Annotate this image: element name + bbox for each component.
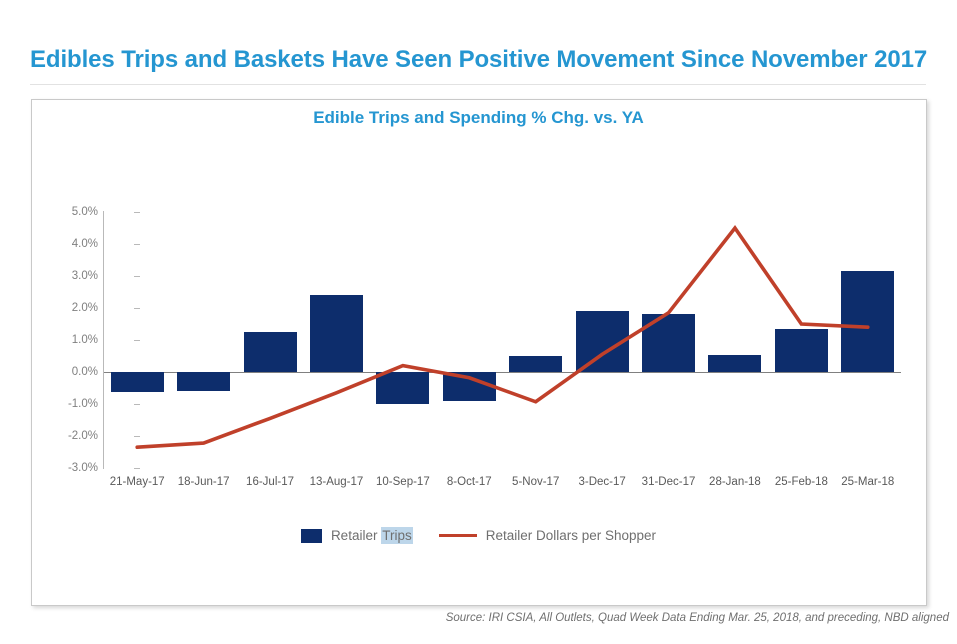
legend-trips-prefix: Retailer — [331, 528, 381, 543]
legend-item-dollars-per-shopper[interactable]: Retailer Dollars per Shopper — [439, 528, 656, 543]
bar-31-Dec-17[interactable] — [642, 314, 695, 372]
y-axis-tick-label: 5.0% — [42, 206, 98, 218]
legend-bar-swatch-icon — [301, 529, 322, 543]
y-axis-line — [103, 211, 104, 469]
legend-item-dollars-label: Retailer Dollars per Shopper — [486, 528, 656, 543]
y-axis-tick-mark — [134, 340, 140, 341]
y-axis-tick-label: 4.0% — [42, 238, 98, 250]
y-axis-tick-mark — [134, 308, 140, 309]
bar-21-May-17[interactable] — [111, 372, 164, 392]
legend-item-trips-label: Retailer Trips — [331, 528, 413, 543]
bar-10-Sep-17[interactable] — [376, 372, 429, 404]
y-axis-tick-label: -1.0% — [42, 398, 98, 410]
legend-trips-highlight: Trips — [381, 527, 413, 544]
bar-5-Nov-17[interactable] — [509, 356, 562, 372]
bar-18-Jun-17[interactable] — [177, 372, 230, 391]
legend-item-trips[interactable]: Retailer Trips — [301, 528, 413, 543]
x-axis-tick-label: 25-Mar-18 — [813, 476, 923, 488]
bar-28-Jan-18[interactable] — [708, 355, 761, 372]
y-axis-tick-mark — [134, 244, 140, 245]
bar-25-Mar-18[interactable] — [841, 271, 894, 372]
bar-25-Feb-18[interactable] — [775, 329, 828, 372]
y-axis-tick-mark — [134, 404, 140, 405]
y-axis-tick-mark — [134, 212, 140, 213]
y-axis-tick-label: 3.0% — [42, 270, 98, 282]
bar-8-Oct-17[interactable] — [443, 372, 496, 401]
chart-legend: Retailer Trips Retailer Dollars per Shop… — [0, 528, 957, 543]
y-axis-tick-mark — [134, 468, 140, 469]
title-divider — [30, 84, 926, 85]
page-title: Edibles Trips and Baskets Have Seen Posi… — [30, 46, 920, 74]
bar-3-Dec-17[interactable] — [576, 311, 629, 372]
bar-13-Aug-17[interactable] — [310, 295, 363, 372]
y-axis-tick-mark — [134, 436, 140, 437]
legend-line-swatch-icon — [439, 534, 477, 538]
y-axis-tick-label: 1.0% — [42, 334, 98, 346]
y-axis-tick-label: 2.0% — [42, 302, 98, 314]
bar-16-Jul-17[interactable] — [244, 332, 297, 372]
y-axis-tick-label: 0.0% — [42, 366, 98, 378]
y-axis-tick-mark — [134, 276, 140, 277]
source-note: Source: IRI CSIA, All Outlets, Quad Week… — [446, 612, 949, 624]
y-axis-tick-label: -2.0% — [42, 430, 98, 442]
y-axis-labels: 5.0%4.0%3.0%2.0%1.0%0.0%-1.0%-2.0%-3.0% — [36, 0, 98, 644]
y-axis-tick-label: -3.0% — [42, 462, 98, 474]
chart-title: Edible Trips and Spending % Chg. vs. YA — [0, 108, 957, 128]
